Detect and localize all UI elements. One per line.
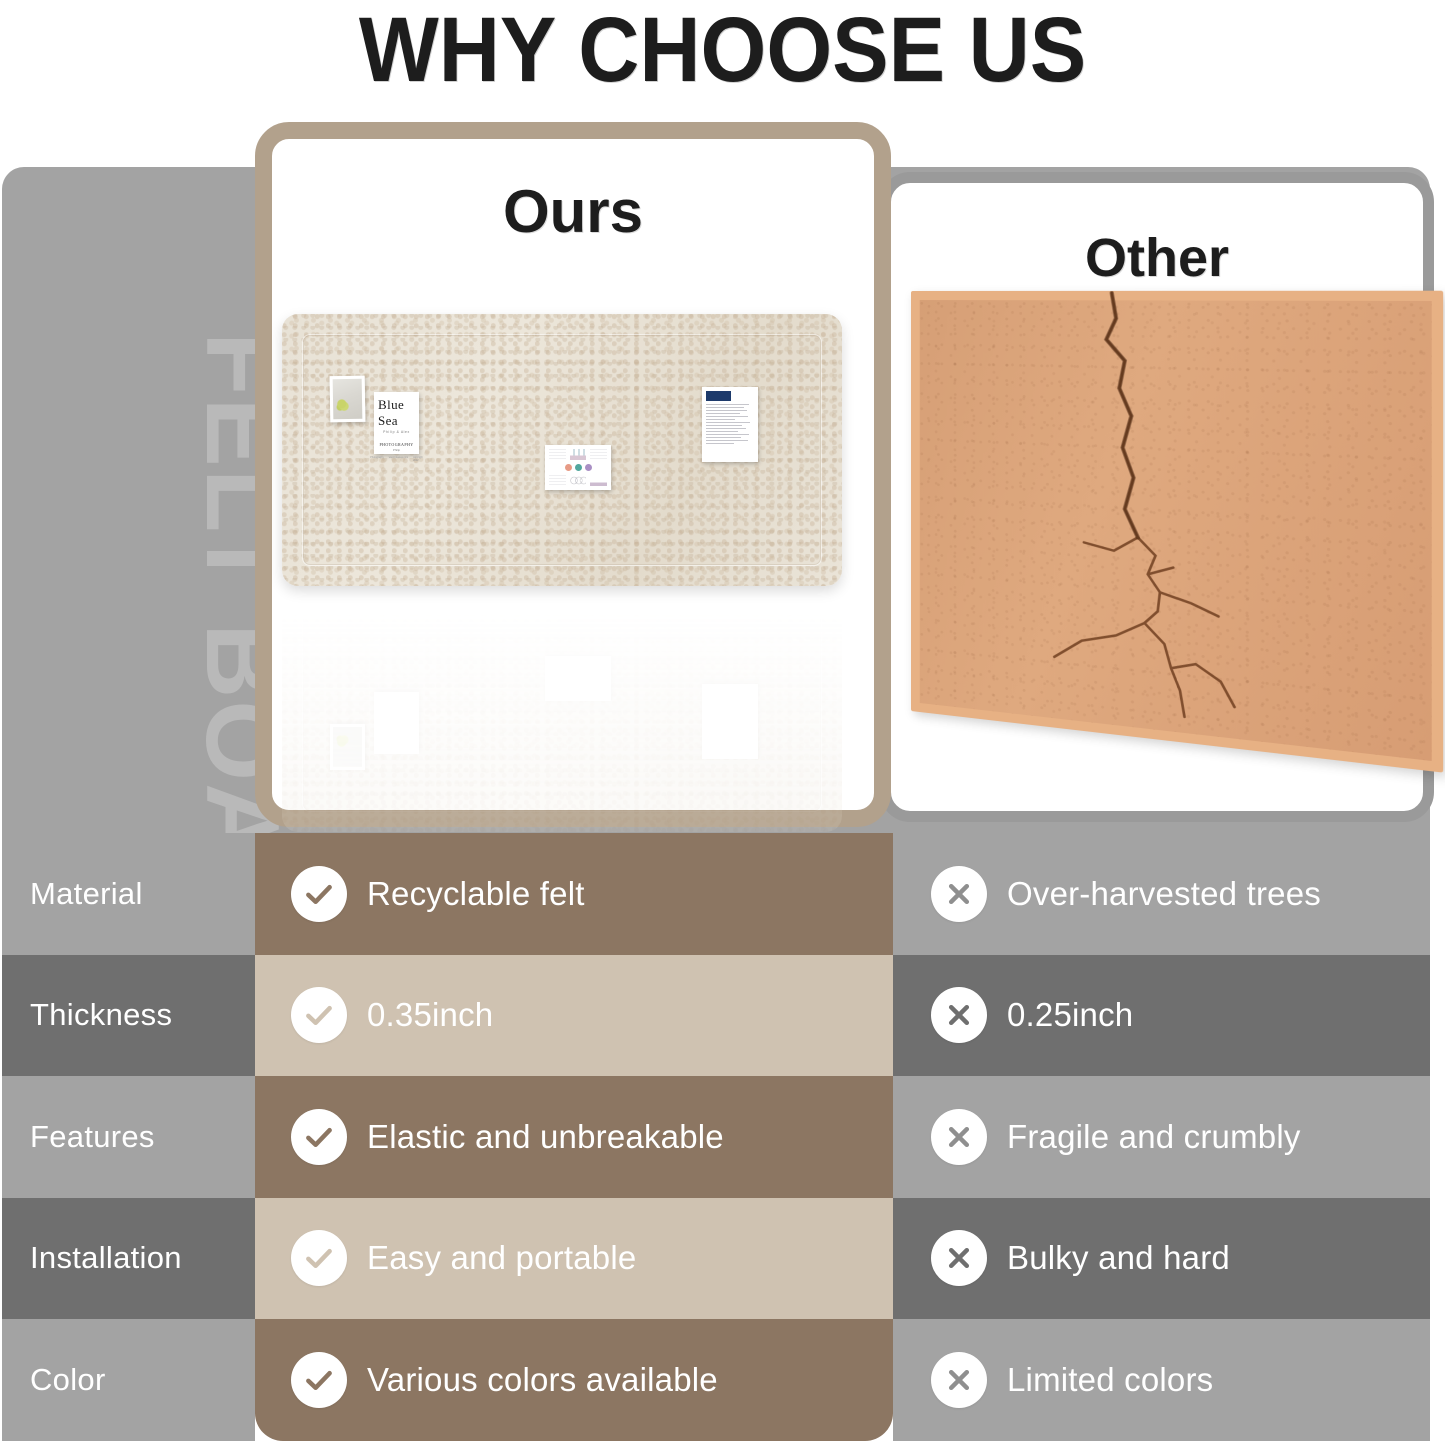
comparison-table: Material Recyclable felt Over-harvested … xyxy=(2,833,1430,1441)
row-other-material: Over-harvested trees xyxy=(893,833,1430,955)
table-row: Installation Easy and portable Bulky and… xyxy=(2,1198,1430,1320)
table-row: Thickness 0.35inch 0.25inch xyxy=(2,955,1430,1077)
row-ours-text: 0.35inch xyxy=(367,996,493,1034)
row-other-color: Limited colors xyxy=(893,1319,1430,1441)
chart-area-mountain xyxy=(590,475,607,486)
row-ours-text: Various colors available xyxy=(367,1361,718,1399)
row-other-features: Fragile and crumbly xyxy=(893,1076,1430,1198)
row-ours-thickness: 0.35inch xyxy=(255,955,893,1077)
legend-dot xyxy=(565,464,572,471)
chart-area-lines xyxy=(549,449,566,460)
other-heading: Other xyxy=(891,227,1423,289)
row-other-text: Over-harvested trees xyxy=(1007,875,1321,913)
row-other-text: Fragile and crumbly xyxy=(1007,1118,1301,1156)
chart-area-waves xyxy=(590,449,607,460)
poster-footer-item: www.bluesea.com xyxy=(389,456,408,462)
chart-area-curve xyxy=(549,475,566,486)
row-label-thickness: Thickness xyxy=(2,955,255,1077)
felt-board-image: Blue Sea Philip & Alex PHOTOGRAPHY Phili… xyxy=(282,314,864,794)
row-ours-text: Elastic and unbreakable xyxy=(367,1118,724,1156)
infographic-root: WHY CHOOSE US FELT BOARD Other Ours xyxy=(0,0,1445,1443)
row-ours-text: Easy and portable xyxy=(367,1239,636,1277)
row-ours-features: Elastic and unbreakable xyxy=(255,1076,893,1198)
cross-icon xyxy=(931,1230,987,1286)
row-other-installation: Bulky and hard xyxy=(893,1198,1430,1320)
table-row: Material Recyclable felt Over-harvested … xyxy=(2,833,1430,955)
pinned-infographic-sheet xyxy=(545,445,611,490)
poster-footer: Photography www.bluesea.com copyright 20… xyxy=(370,456,423,462)
poster-footer-item: copyright 2022 xyxy=(413,456,423,462)
row-label-text: Thickness xyxy=(30,997,172,1033)
check-icon xyxy=(291,1109,347,1165)
poster-subtitle: Philip & Alex xyxy=(383,430,410,434)
row-label-text: Installation xyxy=(30,1240,182,1276)
row-label-installation: Installation xyxy=(2,1198,255,1320)
chart-area-bars xyxy=(570,449,587,460)
page-title: WHY CHOOSE US xyxy=(58,0,1387,98)
table-row: Features Elastic and unbreakable Fragile… xyxy=(2,1076,1430,1198)
row-label-material: Material xyxy=(2,833,255,955)
ours-heading: Ours xyxy=(272,177,874,246)
row-label-text: Color xyxy=(30,1362,106,1398)
row-label-features: Features xyxy=(2,1076,255,1198)
row-label-text: Features xyxy=(30,1119,155,1155)
pinned-photo-thumbnail xyxy=(330,376,366,423)
cork-board-image xyxy=(911,291,1411,766)
check-icon xyxy=(291,1230,347,1286)
row-other-text: Limited colors xyxy=(1007,1361,1213,1399)
row-ours-installation: Easy and portable xyxy=(255,1198,893,1320)
felt-surface: Blue Sea Philip & Alex PHOTOGRAPHY Phili… xyxy=(282,314,842,586)
cross-icon xyxy=(931,1109,987,1165)
cork-crack-icon xyxy=(911,291,1443,773)
chart-dot-legend xyxy=(549,463,607,472)
check-icon xyxy=(291,987,347,1043)
row-ours-text: Recyclable felt xyxy=(367,875,585,913)
row-label-text: Material xyxy=(30,876,143,912)
legend-dot xyxy=(585,464,592,471)
cross-icon xyxy=(931,866,987,922)
cross-icon xyxy=(931,987,987,1043)
check-icon xyxy=(291,1352,347,1408)
row-label-color: Color xyxy=(2,1319,255,1441)
pinned-blue-sea-poster: Blue Sea Philip & Alex PHOTOGRAPHY Phili… xyxy=(374,392,419,454)
other-product-card: Other xyxy=(880,172,1434,822)
pinned-resume-document xyxy=(702,387,758,462)
legend-dot xyxy=(575,464,582,471)
resume-body-lines xyxy=(706,404,754,444)
chart-area-circles xyxy=(570,475,587,486)
row-ours-color: Various colors available xyxy=(255,1319,893,1441)
table-row: Color Various colors available Limited c… xyxy=(2,1319,1430,1441)
row-other-text: 0.25inch xyxy=(1007,996,1133,1034)
row-other-text: Bulky and hard xyxy=(1007,1239,1230,1277)
row-ours-material: Recyclable felt xyxy=(255,833,893,955)
row-other-thickness: 0.25inch xyxy=(893,955,1430,1077)
cross-icon xyxy=(931,1352,987,1408)
poster-title: Blue Sea xyxy=(378,397,415,429)
check-icon xyxy=(291,866,347,922)
ours-product-card: Ours Blue Sea Philip & Alex PHOTOGRAPHY … xyxy=(255,122,891,827)
felt-board-reflection xyxy=(282,592,842,832)
poster-footer-item: Photography xyxy=(370,456,384,462)
poster-caption: PHOTOGRAPHY xyxy=(379,442,413,447)
poster-caption-sub: Philip xyxy=(393,448,400,452)
resume-header-block xyxy=(706,391,731,401)
